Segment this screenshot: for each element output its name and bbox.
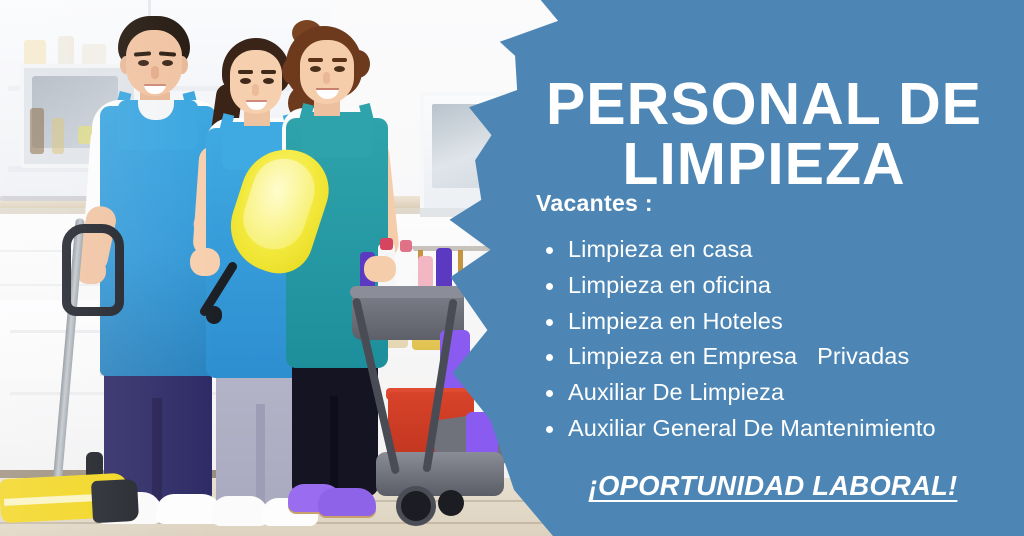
list-item: Limpieza en Empresa Privadas xyxy=(528,339,1024,375)
vacancies-heading: Vacantes : xyxy=(536,190,653,217)
vacancy-label: Limpieza en oficina xyxy=(568,272,771,298)
bullet-icon xyxy=(546,426,553,433)
vacancy-label: Limpieza en Empresa Privadas xyxy=(568,343,909,369)
list-item: Auxiliar General De Mantenimiento xyxy=(528,411,1024,447)
vacancy-label: Limpieza en casa xyxy=(568,236,752,262)
vacancy-label: Limpieza en Hoteles xyxy=(568,308,783,334)
ad-content: PERSONAL DE LIMPIEZA Vacantes : Limpieza… xyxy=(514,0,1024,536)
list-item: Limpieza en oficina xyxy=(528,268,1024,304)
list-item: Limpieza en Hoteles xyxy=(528,304,1024,340)
title-line-2: LIMPIEZA xyxy=(514,134,1014,194)
title-line-1: PERSONAL DE xyxy=(546,71,982,137)
page-title: PERSONAL DE LIMPIEZA xyxy=(514,74,1014,194)
job-ad-poster: PERSONAL DE LIMPIEZA Vacantes : Limpieza… xyxy=(0,0,1024,536)
vacancies-list: Limpieza en casa Limpieza en oficina Lim… xyxy=(528,232,1024,447)
bullet-icon xyxy=(546,283,553,290)
vacancy-label: Auxiliar General De Mantenimiento xyxy=(568,415,936,441)
call-to-action-banner: ¡OPORTUNIDAD LABORAL! xyxy=(528,470,1018,502)
bullet-icon xyxy=(546,319,553,326)
bullet-icon xyxy=(546,354,553,361)
bullet-icon xyxy=(546,390,553,397)
list-item: Limpieza en casa xyxy=(528,232,1024,268)
vacancy-label: Auxiliar De Limpieza xyxy=(568,379,784,405)
bullet-icon xyxy=(546,247,553,254)
list-item: Auxiliar De Limpieza xyxy=(528,375,1024,411)
